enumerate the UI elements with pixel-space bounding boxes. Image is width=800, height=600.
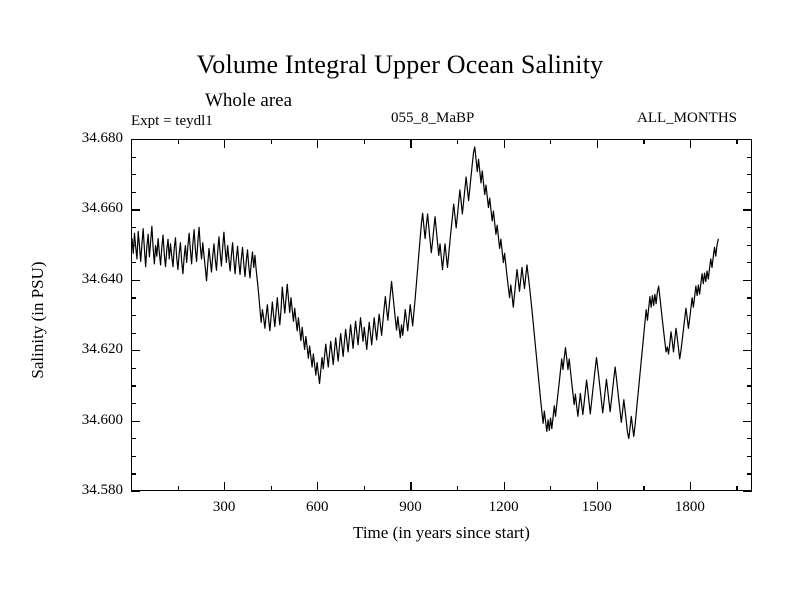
axis-tick xyxy=(747,438,752,439)
axis-tick xyxy=(504,482,505,491)
axis-tick xyxy=(178,486,179,491)
axis-tick xyxy=(131,245,136,246)
axis-tick xyxy=(131,350,140,351)
axis-tick xyxy=(743,421,752,422)
axis-tick xyxy=(131,456,136,457)
axis-tick xyxy=(747,262,752,263)
y-axis-title: Salinity (in PSU) xyxy=(28,220,48,420)
axis-tick xyxy=(747,157,752,158)
axis-tick xyxy=(131,227,136,228)
axis-tick xyxy=(743,139,752,140)
y-tick-label: 34.600 xyxy=(33,412,123,429)
axis-tick xyxy=(747,385,752,386)
axis-tick xyxy=(743,491,752,492)
axis-tick xyxy=(131,368,136,369)
axis-tick xyxy=(747,456,752,457)
axis-tick xyxy=(271,139,272,144)
plot-area xyxy=(131,139,752,491)
axis-tick xyxy=(131,385,136,386)
axis-tick xyxy=(317,139,318,148)
axis-tick xyxy=(457,486,458,491)
axis-tick xyxy=(131,473,136,474)
axis-tick xyxy=(410,139,411,148)
axis-tick xyxy=(743,350,752,351)
axis-tick xyxy=(131,333,136,334)
chart-canvas: Volume Integral Upper Ocean Salinity Who… xyxy=(0,0,800,600)
axis-tick xyxy=(747,403,752,404)
x-tick-label: 1500 xyxy=(562,499,632,516)
axis-tick xyxy=(224,139,225,148)
axis-tick xyxy=(690,482,691,491)
experiment-label: Expt = teydl1 xyxy=(131,113,213,130)
axis-tick xyxy=(131,157,136,158)
axis-tick xyxy=(364,486,365,491)
axis-tick xyxy=(747,473,752,474)
axis-tick xyxy=(457,139,458,144)
subtitle-area: Whole area xyxy=(205,90,292,112)
axis-tick xyxy=(747,192,752,193)
axis-tick xyxy=(131,139,140,140)
axis-tick xyxy=(131,280,140,281)
axis-tick xyxy=(131,421,140,422)
period-label: 055_8_MaBP xyxy=(391,110,474,127)
axis-tick xyxy=(747,227,752,228)
y-tick-label: 34.680 xyxy=(33,130,123,147)
axis-tick xyxy=(743,209,752,210)
axis-tick xyxy=(317,482,318,491)
axis-tick xyxy=(364,139,365,144)
axis-tick xyxy=(224,482,225,491)
axis-tick xyxy=(743,280,752,281)
months-label: ALL_MONTHS xyxy=(637,110,737,127)
axis-tick xyxy=(131,192,136,193)
axis-tick xyxy=(131,315,136,316)
x-tick-label: 900 xyxy=(375,499,445,516)
y-tick-label: 34.640 xyxy=(33,271,123,288)
axis-tick xyxy=(747,368,752,369)
axis-tick xyxy=(504,139,505,148)
axis-tick xyxy=(131,262,136,263)
axis-tick xyxy=(131,174,136,175)
axis-tick xyxy=(747,245,752,246)
x-tick-label: 300 xyxy=(189,499,259,516)
axis-tick xyxy=(271,486,272,491)
axis-tick xyxy=(643,139,644,144)
axis-tick xyxy=(131,491,140,492)
axis-tick xyxy=(736,139,737,144)
axis-tick xyxy=(643,486,644,491)
y-tick-label: 34.580 xyxy=(33,482,123,499)
series-line xyxy=(132,140,753,492)
axis-tick xyxy=(131,209,140,210)
axis-tick xyxy=(131,438,136,439)
x-tick-label: 1200 xyxy=(469,499,539,516)
axis-tick xyxy=(550,486,551,491)
axis-tick xyxy=(410,482,411,491)
x-axis-title: Time (in years since start) xyxy=(131,523,752,543)
axis-tick xyxy=(747,174,752,175)
axis-tick xyxy=(597,482,598,491)
x-tick-label: 1800 xyxy=(655,499,725,516)
y-tick-label: 34.660 xyxy=(33,200,123,217)
axis-tick xyxy=(736,486,737,491)
axis-tick xyxy=(747,333,752,334)
axis-tick xyxy=(178,139,179,144)
axis-tick xyxy=(747,297,752,298)
axis-tick xyxy=(690,139,691,148)
axis-tick xyxy=(747,315,752,316)
axis-tick xyxy=(131,297,136,298)
x-tick-label: 600 xyxy=(282,499,352,516)
axis-tick xyxy=(550,139,551,144)
axis-tick xyxy=(131,403,136,404)
axis-tick xyxy=(597,139,598,148)
page-title: Volume Integral Upper Ocean Salinity xyxy=(0,50,800,80)
y-tick-label: 34.620 xyxy=(33,341,123,358)
